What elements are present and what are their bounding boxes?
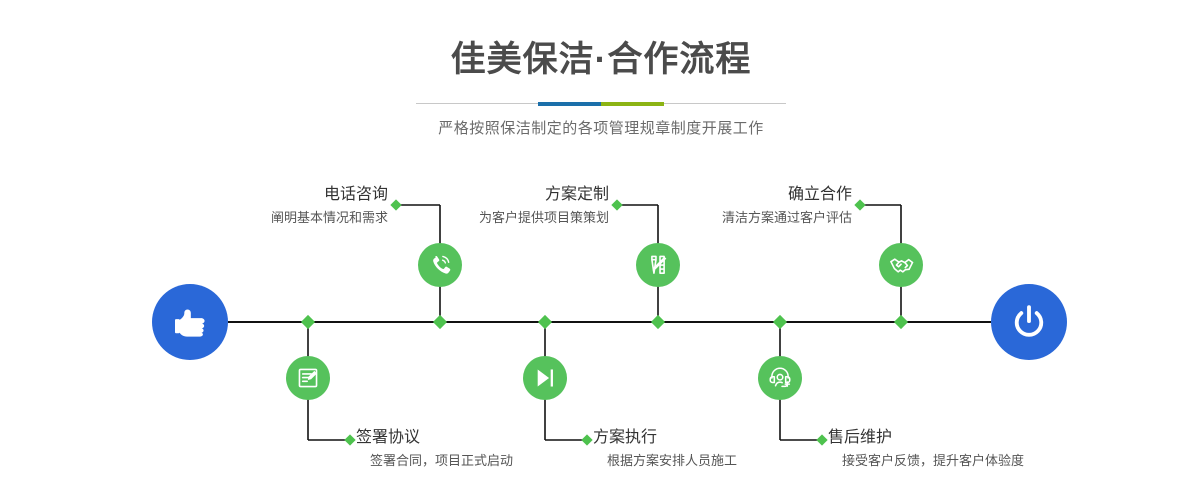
phone-call-icon [427, 252, 453, 278]
step-node-phone[interactable] [418, 243, 462, 287]
axis-diamond-4 [651, 315, 665, 329]
axis-diamond-1 [301, 315, 315, 329]
step-label-6-desc: 接受客户反馈，提升客户体验度 [842, 452, 1168, 470]
step-label-5-desc: 清洁方案通过客户评估 [540, 209, 852, 227]
label-diamond-step5 [854, 199, 865, 210]
step-node-design[interactable] [636, 243, 680, 287]
play-execute-icon [532, 365, 558, 391]
flow-diagram-page: 佳美保洁·合作流程 严格按照保洁制定的各项管理规章制度开展工作 [0, 0, 1202, 502]
step-node-contract[interactable] [286, 356, 330, 400]
document-edit-icon [295, 365, 321, 391]
connector-lines [0, 0, 1202, 502]
process-timeline: 电话咨询 阐明基本情况和需求 方案定制 为客户提供项目策策划 确立合作 清洁方案… [0, 0, 1202, 502]
timeline-end-node[interactable] [991, 284, 1067, 360]
pencil-ruler-icon [645, 252, 671, 278]
step-label-5-title: 确立合作 [540, 185, 852, 205]
step-node-support[interactable] [758, 356, 802, 400]
step-label-5: 确立合作 清洁方案通过客户评估 [540, 185, 852, 227]
step-node-handshake[interactable] [879, 243, 923, 287]
step-label-6: 售后维护 接受客户反馈，提升客户体验度 [828, 428, 1168, 470]
axis-diamond-6 [894, 315, 908, 329]
handshake-icon [888, 252, 915, 279]
axis-diamond-5 [773, 315, 787, 329]
headset-add-icon [767, 365, 793, 391]
axis-diamond-3 [538, 315, 552, 329]
step-label-6-title: 售后维护 [828, 428, 1168, 448]
axis-diamond-2 [433, 315, 447, 329]
label-diamond-step2 [344, 434, 355, 445]
pointing-hand-icon [170, 302, 210, 342]
power-icon [1008, 301, 1050, 343]
step-node-execute[interactable] [523, 356, 567, 400]
timeline-start-node[interactable] [152, 284, 228, 360]
